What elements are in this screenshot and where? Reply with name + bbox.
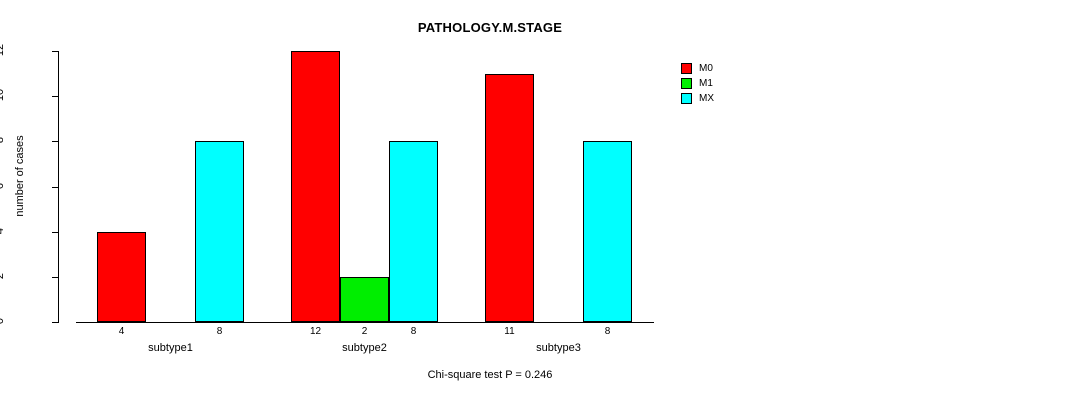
x-axis-group-label-subtype1: subtype1: [77, 342, 264, 354]
bar-subtype1-M0: [97, 232, 146, 322]
legend-swatch-M0: [681, 63, 692, 74]
bar-subtype3-MX: [583, 141, 632, 322]
bar-value-label: 8: [583, 326, 632, 337]
barplot-figure: PATHOLOGY.M.STAGE number of cases 024681…: [0, 0, 1090, 400]
y-axis-tick: [52, 232, 58, 233]
y-axis-tick-label: 8: [0, 120, 6, 160]
chi-square-annotation: Chi-square test P = 0.246: [0, 369, 1035, 381]
x-axis-line: [76, 322, 654, 323]
legend-item-M1: M1: [681, 76, 714, 91]
legend: M0M1MX: [681, 61, 714, 106]
bar-value-label: 2: [340, 326, 389, 337]
y-axis-tick: [52, 96, 58, 97]
bar-value-label: 11: [485, 326, 534, 337]
y-axis-tick-label: 10: [0, 75, 6, 115]
y-axis-tick: [52, 277, 58, 278]
chart-title: PATHOLOGY.M.STAGE: [0, 20, 1035, 35]
legend-swatch-MX: [681, 93, 692, 104]
legend-label-MX: MX: [699, 93, 714, 104]
legend-label-M1: M1: [699, 78, 713, 89]
y-axis-line: [58, 51, 59, 323]
legend-swatch-M1: [681, 78, 692, 89]
bar-value-label: 8: [389, 326, 438, 337]
legend-item-MX: MX: [681, 91, 714, 106]
bar-value-label: 4: [97, 326, 146, 337]
bar-subtype1-MX: [195, 141, 244, 322]
bar-subtype3-M0: [485, 74, 534, 322]
y-axis-tick: [52, 187, 58, 188]
bar-subtype2-M0: [291, 51, 340, 322]
bar-subtype2-M1: [340, 277, 389, 322]
legend-item-M0: M0: [681, 61, 714, 76]
x-axis-group-label-subtype3: subtype3: [465, 342, 652, 354]
bar-value-label: 8: [195, 326, 244, 337]
y-axis-tick-label: 6: [0, 166, 6, 206]
y-axis-title: number of cases: [14, 116, 26, 236]
x-axis-group-label-subtype2: subtype2: [271, 342, 458, 354]
y-axis-tick: [52, 141, 58, 142]
y-axis-tick-label: 2: [0, 256, 6, 296]
y-axis-tick: [52, 51, 58, 52]
y-axis-tick: [52, 322, 58, 323]
y-axis-tick-label: 4: [0, 211, 6, 251]
y-axis-tick-label: 12: [0, 30, 6, 70]
legend-label-M0: M0: [699, 63, 713, 74]
y-axis-tick-label: 0: [0, 301, 6, 341]
bar-subtype2-MX: [389, 141, 438, 322]
bar-value-label: 12: [291, 326, 340, 337]
